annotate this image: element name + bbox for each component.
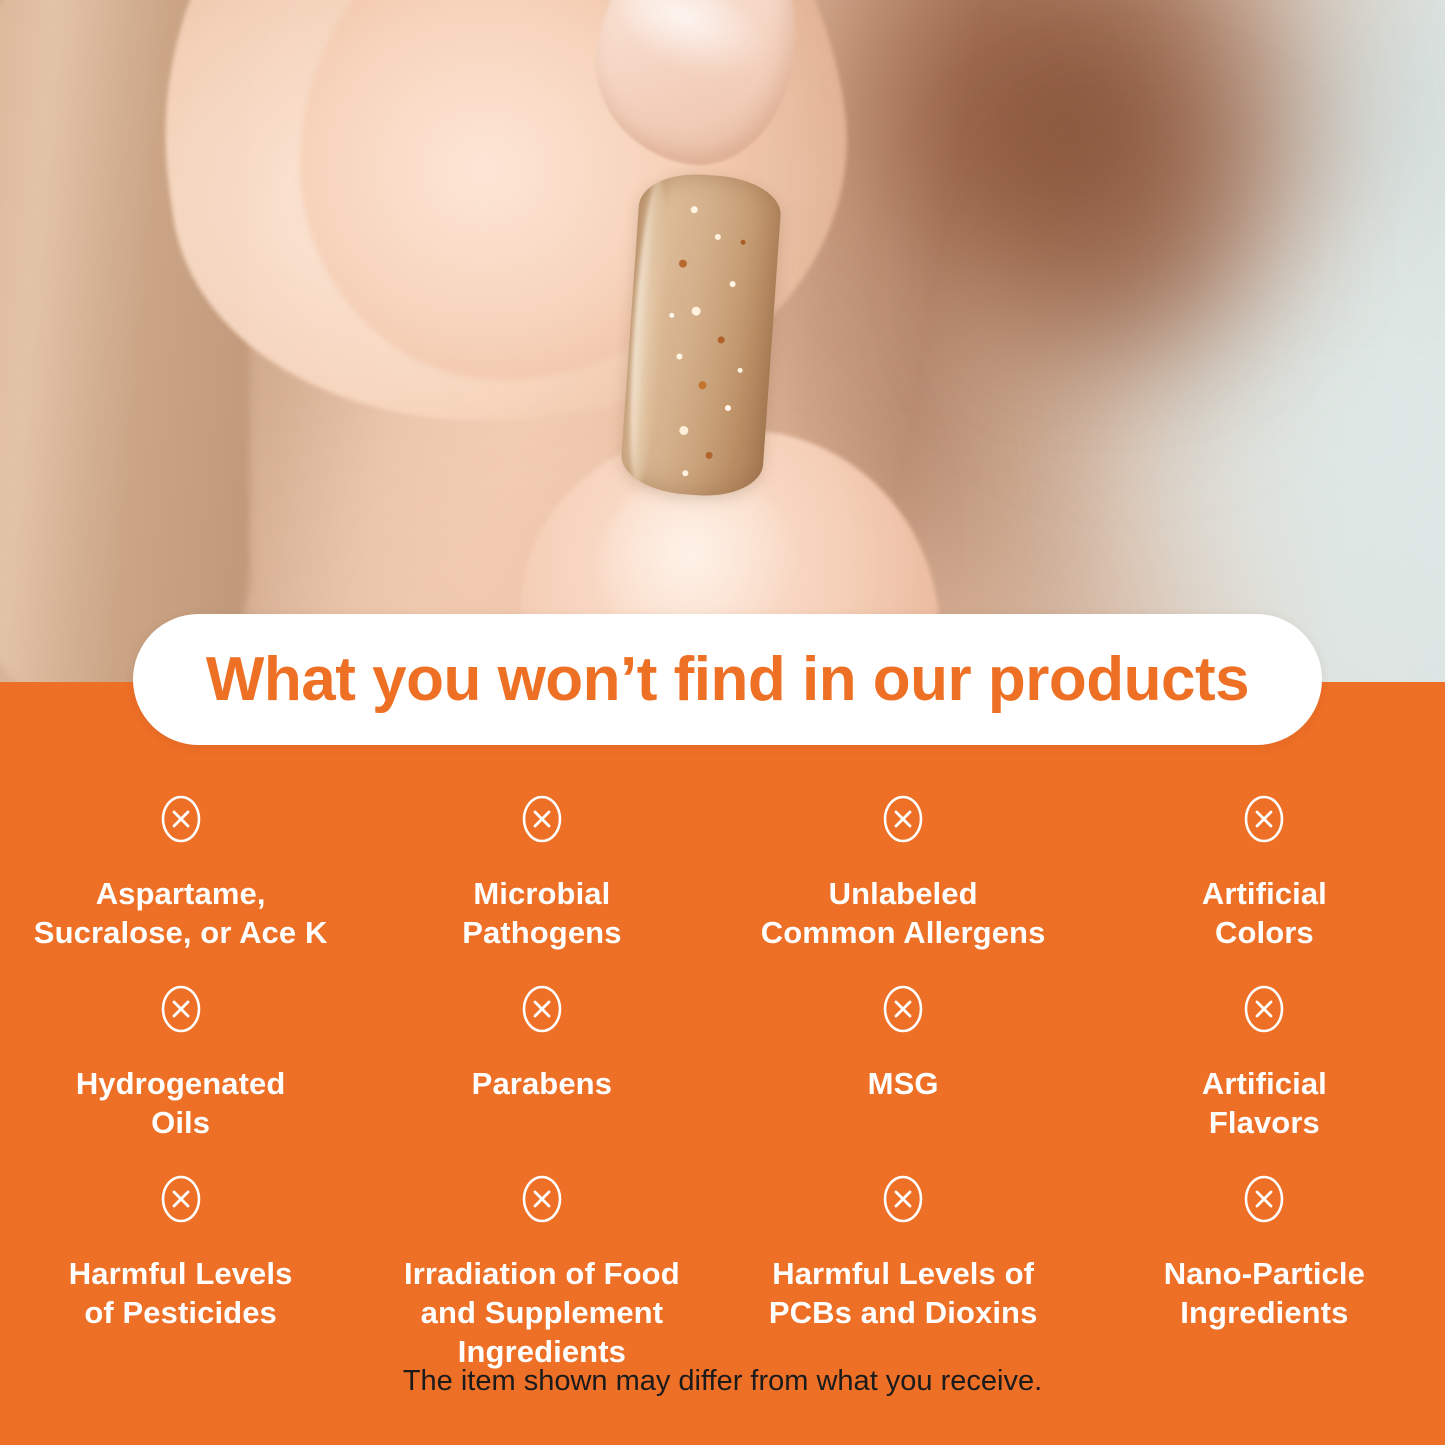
exclusion-label: Aspartame, Sucralose, or Ace K bbox=[16, 874, 345, 952]
circle-x-icon bbox=[881, 794, 925, 844]
photo-bokeh-dark-lower bbox=[950, 120, 1310, 420]
exclusion-label: Artificial Colors bbox=[1100, 874, 1429, 952]
circle-x-icon bbox=[1242, 794, 1286, 844]
exclusion-label: Hydrogenated Oils bbox=[16, 1064, 345, 1142]
exclusion-item: Hydrogenated Oils bbox=[0, 962, 361, 1152]
circle-x-icon bbox=[159, 1174, 203, 1224]
exclusion-item: Unlabeled Common Allergens bbox=[723, 772, 1084, 962]
title-part-1: What you bbox=[206, 645, 498, 714]
exclusion-item: Nano-Particle Ingredients bbox=[1084, 1152, 1445, 1381]
exclusion-item: Aspartame, Sucralose, or Ace K bbox=[0, 772, 361, 962]
circle-x-icon bbox=[881, 1174, 925, 1224]
exclusion-label: MSG bbox=[739, 1064, 1068, 1103]
circle-x-icon bbox=[159, 794, 203, 844]
exclusions-grid: Aspartame, Sucralose, or Ace KMicrobial … bbox=[0, 772, 1445, 1381]
title-emphasis: won’t bbox=[498, 645, 657, 714]
circle-x-icon bbox=[520, 1174, 564, 1224]
supplement-tablet bbox=[619, 170, 783, 499]
exclusion-item: Artificial Flavors bbox=[1084, 962, 1445, 1152]
exclusion-item: MSG bbox=[723, 962, 1084, 1152]
exclusion-label: Artificial Flavors bbox=[1100, 1064, 1429, 1142]
exclusion-label: Unlabeled Common Allergens bbox=[739, 874, 1068, 952]
circle-x-icon bbox=[1242, 984, 1286, 1034]
exclusion-label: Parabens bbox=[377, 1064, 706, 1103]
headline-card: What you won’t find in our products bbox=[133, 614, 1322, 745]
title-part-2: find in our products bbox=[657, 645, 1249, 714]
exclusion-label: Harmful Levels of PCBs and Dioxins bbox=[739, 1254, 1068, 1332]
product-photo bbox=[0, 0, 1445, 682]
exclusion-label: Irradiation of Food and Supplement Ingre… bbox=[377, 1254, 706, 1371]
circle-x-icon bbox=[1242, 1174, 1286, 1224]
exclusion-label: Harmful Levels of Pesticides bbox=[16, 1254, 345, 1332]
exclusion-item: Parabens bbox=[361, 962, 722, 1152]
footer: The item shown may differ from what you … bbox=[0, 1365, 1445, 1398]
exclusion-item: Harmful Levels of Pesticides bbox=[0, 1152, 361, 1381]
circle-x-icon bbox=[520, 794, 564, 844]
circle-x-icon bbox=[159, 984, 203, 1034]
disclaimer-text: The item shown may differ from what you … bbox=[403, 1365, 1042, 1397]
exclusion-item: Artificial Colors bbox=[1084, 772, 1445, 962]
exclusion-item: Harmful Levels of PCBs and Dioxins bbox=[723, 1152, 1084, 1381]
page-title: What you won’t find in our products bbox=[206, 649, 1249, 711]
exclusion-label: Nano-Particle Ingredients bbox=[1100, 1254, 1429, 1332]
circle-x-icon bbox=[520, 984, 564, 1034]
circle-x-icon bbox=[881, 984, 925, 1034]
exclusion-item: Irradiation of Food and Supplement Ingre… bbox=[361, 1152, 722, 1381]
exclusion-label: Microbial Pathogens bbox=[377, 874, 706, 952]
exclusion-item: Microbial Pathogens bbox=[361, 772, 722, 962]
product-infographic-page: What you won’t find in our products Aspa… bbox=[0, 0, 1445, 1445]
